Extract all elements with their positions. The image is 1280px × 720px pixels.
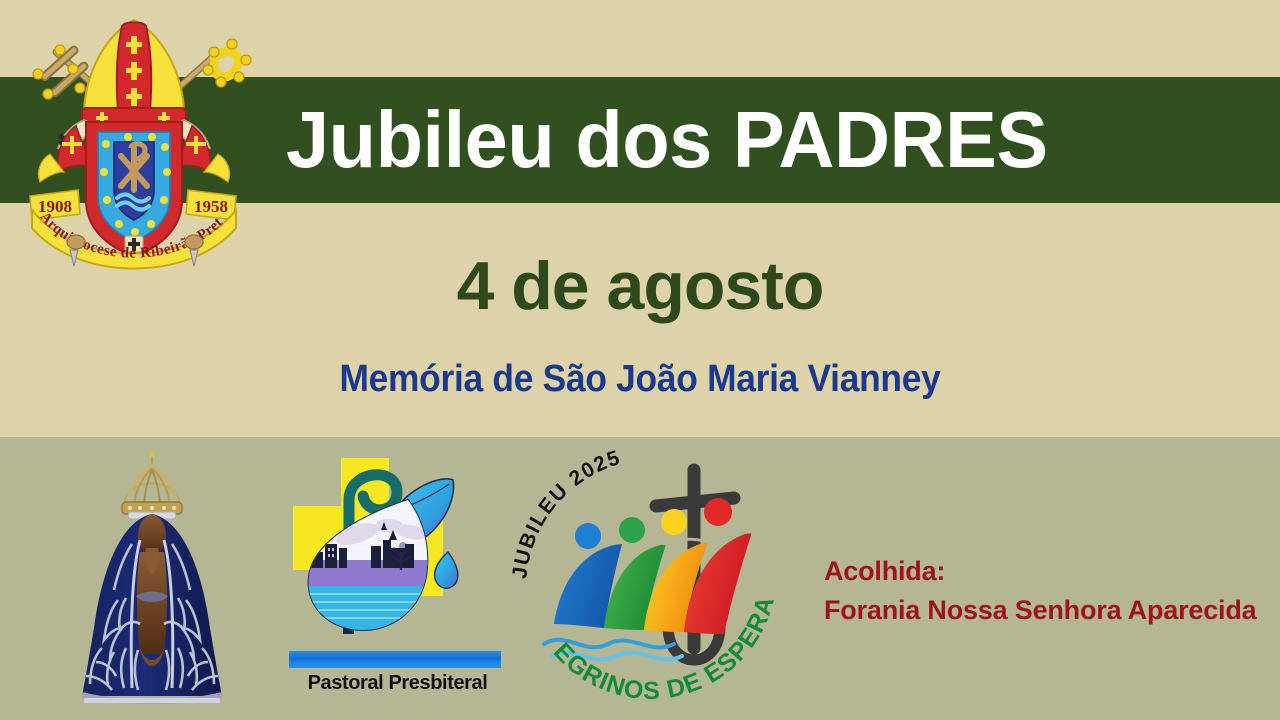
pastoral-logo-bar: [289, 651, 501, 668]
svg-text:1958: 1958: [194, 197, 228, 216]
pastoral-presbiteral-logo: Pastoral Presbiteral: [285, 448, 510, 696]
svg-text:1908: 1908: [38, 197, 72, 216]
event-date: 4 de agosto: [0, 246, 1280, 326]
page-title: Jubileu dos PADRES: [286, 88, 1159, 192]
event-subtitle: Memória de São João Maria Vianney: [45, 356, 1235, 402]
statue-graphic: [62, 448, 242, 710]
acolhida-value: Forania Nossa Senhora Aparecida: [824, 591, 1256, 630]
jubileu-2025-logo: JUBILEU 2025 PEREGRINOS DE ESPERANÇA: [518, 448, 802, 710]
jubilee-logo-graphic: JUBILEU 2025 PEREGRINOS DE ESPERANÇA: [518, 448, 802, 710]
poster-canvas: 1908 1958 Arquidiocese de Ribeirão Preto…: [0, 0, 1280, 720]
acolhida-label: Acolhida:: [824, 552, 1256, 591]
coat-of-arms: 1908 1958 Arquidiocese de Ribeirão Preto: [18, 14, 250, 262]
coat-of-arms-graphic: 1908 1958 Arquidiocese de Ribeirão Preto: [18, 14, 250, 262]
pastoral-logo-graphic: [285, 448, 510, 648]
pastoral-logo-label: Pastoral Presbiteral: [285, 672, 510, 695]
nossa-senhora-aparecida-statue: [62, 448, 242, 710]
acolhida-block: Acolhida: Forania Nossa Senhora Aparecid…: [824, 552, 1256, 630]
